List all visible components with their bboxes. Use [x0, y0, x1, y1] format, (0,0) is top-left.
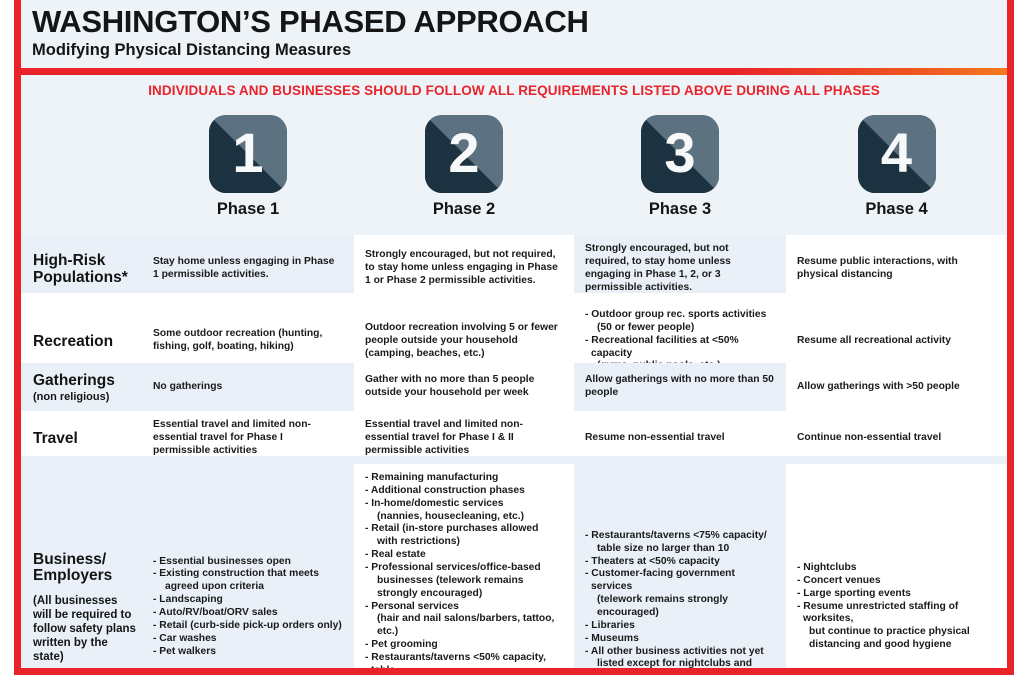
cell-gatherings-phase4: Allow gatherings with >50 people: [786, 363, 1007, 411]
phases-table: INDIVIDUALS AND BUSINESSES SHOULD FOLLOW…: [21, 75, 1007, 668]
row-label-business: Business/ Employers (All businesses will…: [21, 464, 142, 668]
list-item: - Landscaping: [153, 594, 342, 607]
phase-1-number: 1: [209, 115, 287, 193]
phase-2-number: 2: [425, 115, 503, 193]
list-item: - Nightclubs: [797, 562, 995, 575]
row-label-note: (All businesses will be required to foll…: [33, 594, 136, 664]
phase-2-label: Phase 2: [433, 200, 495, 219]
list-item: - Customer-facing government services(te…: [585, 568, 774, 619]
list-item: - Pet walkers: [153, 646, 342, 659]
list-item: - Professional services/office-basedbusi…: [365, 562, 562, 601]
list-item: - Essential businesses open: [153, 556, 342, 569]
phase-2-icon: 2: [425, 115, 503, 193]
phase-header-4: 4 Phase 4: [786, 105, 1007, 235]
list-item: - Car washes: [153, 633, 342, 646]
phase-3-label: Phase 3: [649, 200, 711, 219]
cell-gatherings-phase1: No gatherings: [142, 363, 354, 411]
list-item: - In-home/domestic services(nannies, hou…: [365, 498, 562, 524]
row-label-line2: Employers: [33, 568, 136, 585]
phase-4-icon: 4: [858, 115, 936, 193]
phase-header-3: 3 Phase 3: [574, 105, 786, 235]
row-label-line1: Business/: [33, 552, 136, 569]
row-label-line1: Recreation: [33, 334, 136, 351]
list-item: - Retail (in-store purchases allowedwith…: [365, 523, 562, 549]
list-item: - Retail (curb-side pick-up orders only): [153, 620, 342, 633]
business-phase1-list: - Essential businesses open - Existing c…: [153, 556, 342, 659]
table-row: Business/ Employers (All businesses will…: [21, 464, 1007, 668]
row-label-line1: High-Risk: [33, 253, 136, 270]
phase-1-icon: 1: [209, 115, 287, 193]
list-item: - Large sporting events: [797, 588, 995, 601]
cell-gatherings-phase2: Gather with no more than 5 people outsid…: [354, 363, 574, 411]
list-item: - Outdoor group rec. sports activities(5…: [585, 309, 774, 335]
list-item: - Libraries: [585, 620, 774, 633]
table-row: Recreation Some outdoor recreation (hunt…: [21, 301, 1007, 363]
requirements-banner: INDIVIDUALS AND BUSINESSES SHOULD FOLLOW…: [21, 75, 1007, 105]
frame-border-bottom: [14, 668, 1007, 675]
phase-3-number: 3: [641, 115, 719, 193]
phase-header-2: 2 Phase 2: [354, 105, 574, 235]
phase-3-icon: 3: [641, 115, 719, 193]
page-subtitle: Modifying Physical Distancing Measures: [32, 42, 1014, 59]
row-label-line2: Populations*: [33, 270, 136, 287]
list-item: - Auto/RV/boat/ORV sales: [153, 607, 342, 620]
list-item: - Museums: [585, 633, 774, 646]
row-label-sub: (non religious): [33, 391, 136, 403]
row-label-line1: Travel: [33, 431, 136, 448]
list-item: - Existing construction that meetsagreed…: [153, 568, 342, 594]
cell-business-phase1: - Essential businesses open - Existing c…: [142, 464, 354, 668]
page-title: WASHINGTON’S PHASED APPROACH: [32, 6, 1014, 39]
business-phase2-list: - Remaining manufacturing - Additional c…: [365, 472, 562, 668]
list-item: - Resume unrestricted staffing of worksi…: [797, 601, 995, 652]
cell-business-phase4: - Nightclubs - Concert venues - Large sp…: [786, 464, 1007, 668]
requirements-banner-text: INDIVIDUALS AND BUSINESSES SHOULD FOLLOW…: [148, 83, 880, 98]
phase-1-label: Phase 1: [217, 200, 279, 219]
cell-business-phase3: - Restaurants/taverns <75% capacity/tabl…: [574, 464, 786, 668]
phased-approach-poster: WASHINGTON’S PHASED APPROACH Modifying P…: [0, 0, 1024, 682]
list-item: - Remaining manufacturing: [365, 472, 562, 485]
frame-border-right: [1007, 0, 1014, 682]
list-item: - Personal services(hair and nail salons…: [365, 601, 562, 640]
table-row: High-Risk Populations* Stay home unless …: [21, 235, 1007, 293]
list-item: - Pet grooming: [365, 639, 562, 652]
table-row: Travel Essential travel and limited non-…: [21, 411, 1007, 456]
list-item: - Restaurants/taverns <75% capacity/tabl…: [585, 530, 774, 556]
phase-header-row: 1 Phase 1 2 Phase 2 3 Phase 3: [21, 105, 1007, 235]
list-item: - Additional construction phases: [365, 485, 562, 498]
row-divider: [21, 456, 1007, 464]
cell-gatherings-phase3: Allow gatherings with no more than 50 pe…: [574, 363, 786, 411]
table-row: Gatherings (non religious) No gatherings…: [21, 363, 1007, 411]
business-phase3-list: - Restaurants/taverns <75% capacity/tabl…: [585, 530, 774, 668]
phase-4-label: Phase 4: [865, 200, 927, 219]
row-divider: [21, 293, 1007, 301]
phase-4-number: 4: [858, 115, 936, 193]
row-label-gatherings: Gatherings (non religious): [21, 363, 142, 411]
frame-bottom-spacer: [0, 675, 1024, 682]
frame-border-top: [14, 68, 1007, 75]
list-item: - Restaurants/taverns <50% capacity, tab…: [365, 652, 562, 668]
frame-border-left: [14, 0, 21, 682]
phase-header-corner: [21, 105, 142, 235]
list-item: - Concert venues: [797, 575, 995, 588]
business-phase4-list: - Nightclubs - Concert venues - Large sp…: [797, 562, 995, 652]
poster-header: WASHINGTON’S PHASED APPROACH Modifying P…: [14, 0, 1014, 70]
phase-header-1: 1 Phase 1: [142, 105, 354, 235]
list-item: - All other business activities not yetl…: [585, 646, 774, 668]
row-label-line1: Gatherings: [33, 373, 136, 390]
cell-business-phase2: - Remaining manufacturing - Additional c…: [354, 464, 574, 668]
list-item: - Theaters at <50% capacity: [585, 556, 774, 569]
list-item: - Real estate: [365, 549, 562, 562]
